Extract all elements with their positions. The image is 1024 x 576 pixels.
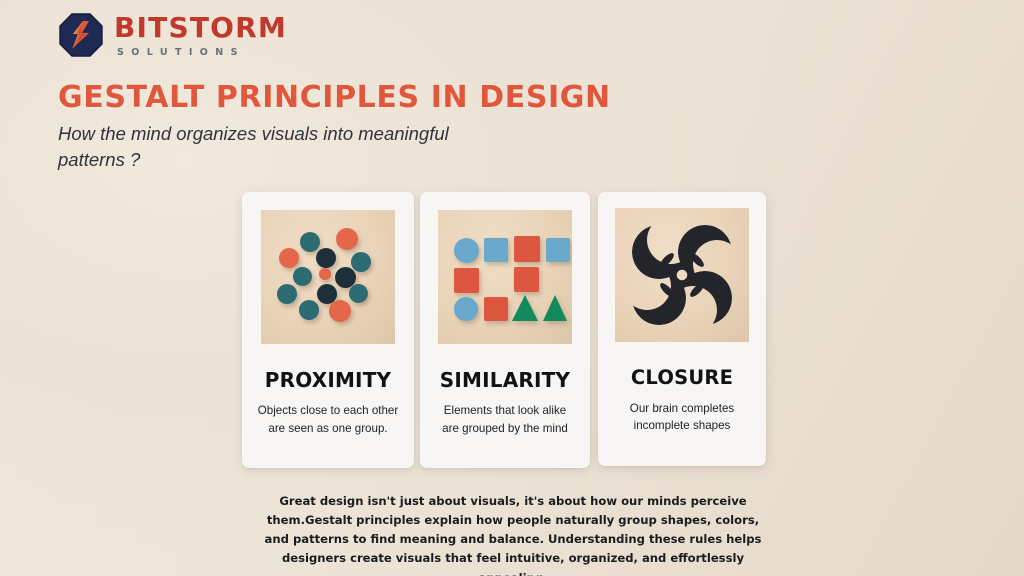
similarity-shapes-image [438,210,572,344]
similarity-circle [454,297,478,321]
proximity-dot [279,248,299,268]
card-title: PROXIMITY [265,370,391,390]
octagon-lightning-bolt-icon [58,12,104,58]
closure-crescents-image [615,208,749,342]
brand-text: BITSTORM SOLUTIONS [114,12,287,58]
brand-logo[interactable]: BITSTORM SOLUTIONS [58,12,287,58]
page-title: GESTALT PRINCIPLES IN DESIGN [58,80,611,115]
similarity-triangle [543,295,567,321]
proximity-dot [336,228,358,250]
proximity-dot [329,300,351,322]
similarity-square [546,238,570,262]
proximity-dot [349,284,368,303]
brand-tagline: SOLUTIONS [117,48,287,58]
proximity-dot [351,252,371,272]
brand-name: BITSTORM [114,14,287,42]
principle-card-group: PROXIMITY Objects close to each other ar… [242,192,766,468]
card-title: CLOSURE [631,368,733,388]
similarity-square [514,267,539,292]
card-closure[interactable]: CLOSURE Our brain completes incomplete s… [598,192,766,466]
proximity-dots-image [261,210,395,344]
similarity-square [484,297,508,321]
card-description: Our brain completes incomplete shapes [612,400,752,435]
page-subtitle: How the mind organizes visuals into mean… [58,121,488,174]
similarity-triangle [512,295,538,321]
card-title: SIMILARITY [440,370,570,390]
summary-paragraph: Great design isn't just about visuals, i… [256,492,770,576]
similarity-circle [454,238,479,263]
card-similarity[interactable]: SIMILARITY Elements that look alike are … [420,192,590,468]
card-description: Elements that look alike are grouped by … [434,402,576,437]
similarity-square [454,268,479,293]
proximity-dot [319,268,331,280]
closure-figure-icon [615,208,749,342]
card-description: Objects close to each other are seen as … [256,402,400,437]
proximity-dot [316,248,336,268]
proximity-dot [277,284,297,304]
proximity-dot [300,232,320,252]
similarity-square [514,236,540,262]
proximity-dot [299,300,319,320]
proximity-dot [293,267,312,286]
card-proximity[interactable]: PROXIMITY Objects close to each other ar… [242,192,414,468]
similarity-square [484,238,508,262]
slide-canvas: BITSTORM SOLUTIONS GESTALT PRINCIPLES IN… [0,0,1024,576]
